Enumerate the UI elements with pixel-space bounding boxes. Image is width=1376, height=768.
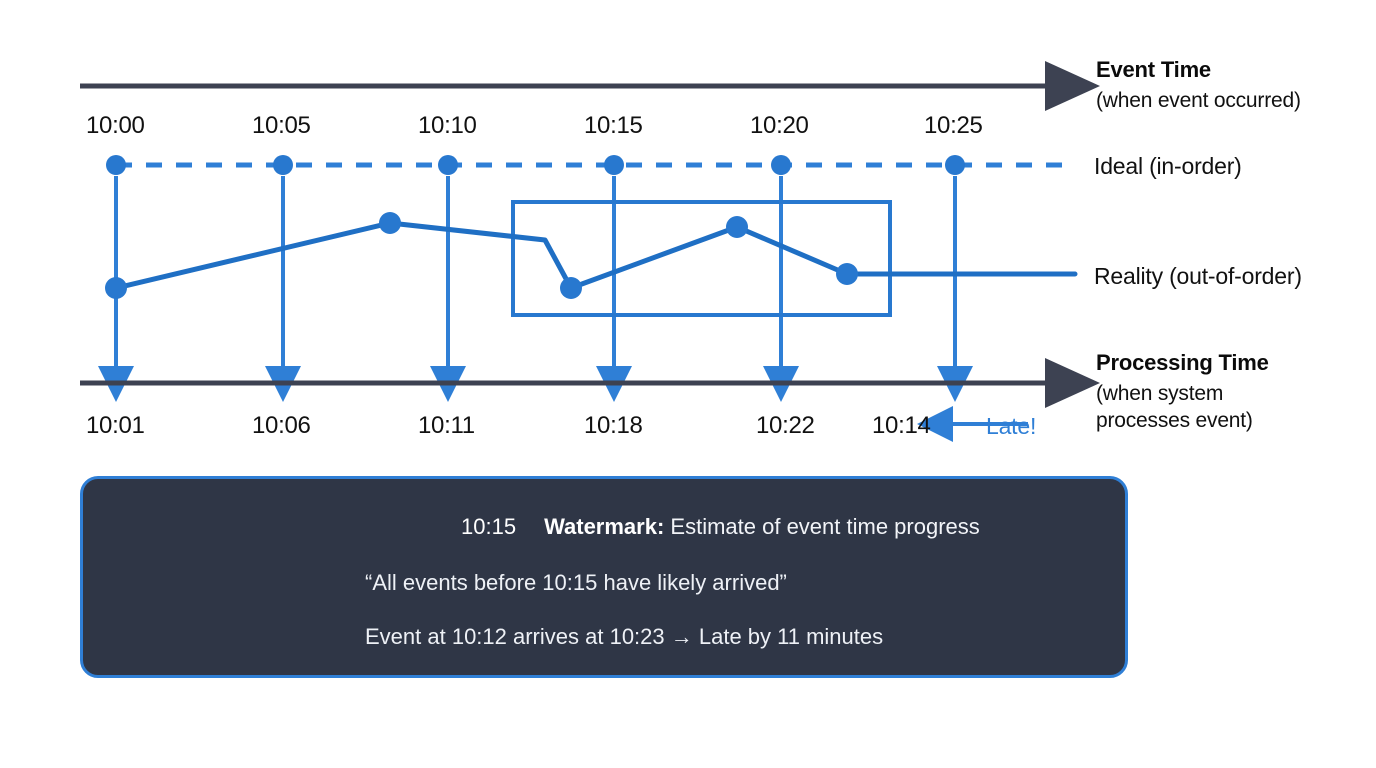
late-label: Late! bbox=[986, 413, 1036, 440]
watermark-callout-panel: 10:15Watermark: Estimate of event time p… bbox=[80, 476, 1128, 678]
processing-tick-label-3: 10:18 bbox=[584, 412, 643, 440]
processing-tick-label-0: 10:01 bbox=[86, 412, 145, 440]
late-event-explanation: Event at 10:12 arrives at 10:23 → Late b… bbox=[365, 624, 883, 650]
watermark-time-value: 10:15 bbox=[461, 514, 516, 539]
diagram-canvas: 10:00 10:05 10:10 10:15 10:20 10:25 10:0… bbox=[0, 0, 1376, 768]
ideal-dot bbox=[771, 155, 791, 175]
reality-dot bbox=[105, 277, 127, 299]
processing-time-subtitle-line1: (when system bbox=[1096, 380, 1223, 407]
ideal-dot bbox=[438, 155, 458, 175]
processing-time-subtitle-line2: processes event) bbox=[1096, 407, 1253, 434]
processing-tick-label-4: 10:22 bbox=[756, 412, 815, 440]
event-tick-label-5: 10:25 bbox=[924, 112, 983, 140]
ideal-dot bbox=[604, 155, 624, 175]
event-tick-label-2: 10:10 bbox=[418, 112, 477, 140]
processing-tick-label-2: 10:11 bbox=[418, 412, 475, 440]
reality-dot bbox=[379, 212, 401, 234]
series-label-reality: Reality (out-of-order) bbox=[1094, 263, 1302, 290]
ideal-dot bbox=[945, 155, 965, 175]
reality-dot bbox=[560, 277, 582, 299]
reality-dot bbox=[726, 216, 748, 238]
watermark-summary-row: 10:15Watermark: Estimate of event time p… bbox=[461, 514, 980, 540]
ideal-dot bbox=[273, 155, 293, 175]
event-tick-label-0: 10:00 bbox=[86, 112, 145, 140]
event-time-subtitle: (when event occurred) bbox=[1096, 87, 1301, 114]
event-tick-label-4: 10:20 bbox=[750, 112, 809, 140]
watermark-description: Estimate of event time progress bbox=[664, 514, 979, 539]
reality-dot bbox=[836, 263, 858, 285]
processing-tick-label-5: 10:14 bbox=[872, 412, 931, 440]
event-time-title: Event Time bbox=[1096, 57, 1211, 83]
series-label-ideal: Ideal (in-order) bbox=[1094, 153, 1242, 180]
reality-line bbox=[116, 223, 1075, 288]
ideal-dot bbox=[106, 155, 126, 175]
processing-time-title: Processing Time bbox=[1096, 350, 1269, 376]
processing-tick-label-1: 10:06 bbox=[252, 412, 311, 440]
watermark-term-label: Watermark: bbox=[544, 514, 664, 539]
event-tick-label-1: 10:05 bbox=[252, 112, 311, 140]
watermark-quote: “All events before 10:15 have likely arr… bbox=[365, 570, 787, 596]
event-tick-label-3: 10:15 bbox=[584, 112, 643, 140]
